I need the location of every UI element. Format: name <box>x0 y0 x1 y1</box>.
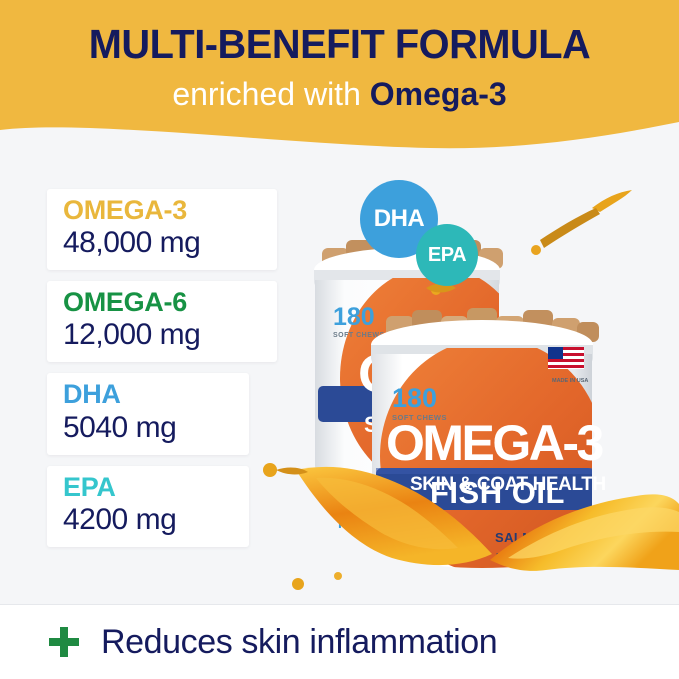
stat-label-dha: DHA <box>63 379 235 409</box>
header-text-block: MULTI-BENEFIT FORMULA enriched with Omeg… <box>0 0 679 110</box>
subtitle-accent: Omega-3 <box>370 76 507 112</box>
stat-value-dha: 5040 mg <box>63 410 235 446</box>
stat-value-omega-3: 48,000 mg <box>63 225 263 261</box>
stat-value-omega-6: 12,000 mg <box>63 317 263 353</box>
oil-droplet-streak <box>531 190 632 255</box>
page-subtitle: enriched with Omega-3 <box>0 78 679 110</box>
stat-label-omega-6: OMEGA-6 <box>63 287 263 317</box>
stat-label-omega-3: OMEGA-3 <box>63 195 263 225</box>
infographic-canvas: MULTI-BENEFIT FORMULA enriched with Omeg… <box>0 0 679 679</box>
front-jar-count: 180 <box>392 383 437 413</box>
benefit-row: Reduces skin inflammation <box>0 605 679 679</box>
stat-label-epa: EPA <box>63 472 235 502</box>
stat-card-omega-6: OMEGA-6 12,000 mg <box>47 281 277 362</box>
plus-icon <box>49 627 79 657</box>
stat-card-epa: EPA 4200 mg <box>47 466 249 547</box>
bubble-epa: EPA <box>416 224 478 286</box>
stat-value-epa: 4200 mg <box>63 502 235 538</box>
stat-card-dha: DHA 5040 mg <box>47 373 249 454</box>
benefit-text: Reduces skin inflammation <box>101 623 497 662</box>
stat-card-omega-3: OMEGA-3 48,000 mg <box>47 189 277 270</box>
page-title: MULTI-BENEFIT FORMULA <box>10 24 669 65</box>
nutrient-stats-list: OMEGA-3 48,000 mg OMEGA-6 12,000 mg DHA … <box>47 189 277 558</box>
subtitle-plain: enriched with <box>172 76 369 112</box>
us-flag-icon <box>548 347 584 369</box>
back-jar-count: 180 <box>333 303 375 331</box>
header-banner: MULTI-BENEFIT FORMULA enriched with Omeg… <box>0 0 679 160</box>
front-jar-flag-caption: MADE IN USA <box>552 378 588 384</box>
front-jar-brand: OMEGA-3 <box>386 415 603 471</box>
front-jar-band: FISH OIL <box>430 475 565 510</box>
